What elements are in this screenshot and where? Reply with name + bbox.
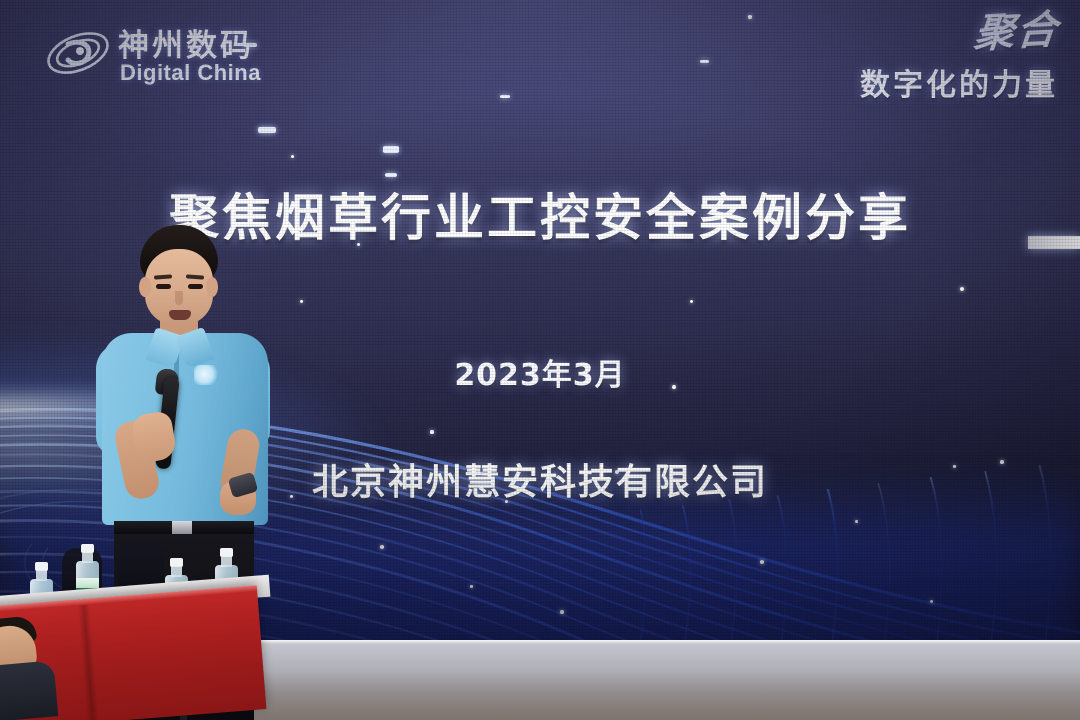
particle-dash bbox=[385, 173, 397, 177]
brand-logo-english: Digital China bbox=[120, 60, 261, 86]
particle-dash bbox=[383, 146, 399, 153]
particle-dash bbox=[258, 127, 276, 133]
presenter-ear-left bbox=[139, 277, 151, 297]
slogan-calligraphy: 聚合 bbox=[858, 9, 1061, 61]
presenter-chest-logo bbox=[194, 365, 220, 385]
brand-logo-chinese: 神州数码 bbox=[118, 20, 254, 65]
particle-dash bbox=[500, 95, 510, 98]
particle-dot bbox=[291, 155, 294, 158]
presenter-belt-buckle bbox=[172, 521, 192, 534]
particle-dot bbox=[960, 287, 964, 291]
presenter-nose bbox=[175, 291, 183, 305]
screen-edge-accent-bar bbox=[1028, 236, 1080, 249]
slogan-subtitle: 数字化的力量 bbox=[860, 60, 1058, 104]
presenter-ear-right bbox=[206, 277, 218, 297]
conference-photo: 神州数码 Digital China 聚合 数字化的力量 聚焦烟草行业工控安全案… bbox=[0, 0, 1080, 720]
particle-dash bbox=[700, 60, 709, 63]
presenter-eye-right bbox=[188, 284, 203, 289]
presenter-mouth bbox=[169, 310, 191, 320]
event-slogan: 聚合 数字化的力量 bbox=[860, 14, 1058, 104]
brand-logo: 神州数码 Digital China bbox=[44, 18, 314, 90]
attendee-body bbox=[0, 660, 58, 720]
presenter-eye-left bbox=[156, 284, 171, 289]
particle-dot bbox=[748, 15, 752, 19]
digital-china-swirl-logo-icon bbox=[44, 24, 112, 82]
